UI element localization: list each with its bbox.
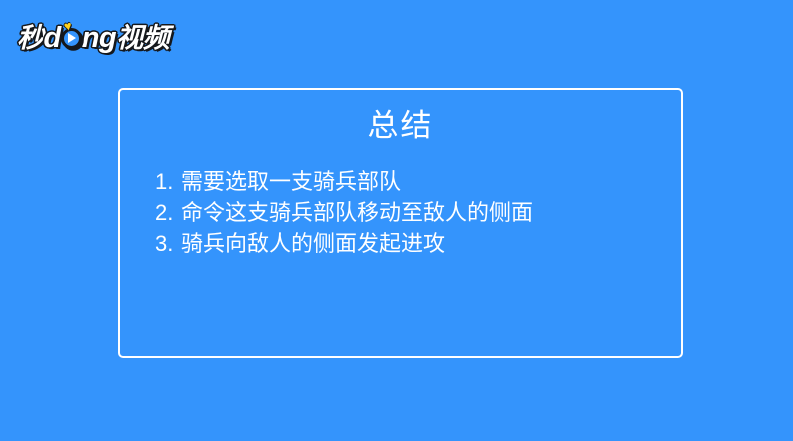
list-item-number: 1. [155, 166, 181, 197]
logo-text-prefix: 秒 [17, 25, 44, 52]
list-item-number: 3. [155, 228, 181, 259]
card-title: 总结 [120, 90, 681, 144]
slide-canvas: 秒 d ng 视频 ♥ 总结 1. 需要选取一支骑兵部队 2. 命令这支骑兵部队… [0, 0, 793, 441]
logo-text-suffix: 视频 [116, 25, 169, 52]
list-item: 2. 命令这支骑兵部队移动至敌人的侧面 [155, 197, 663, 228]
logo-text-d: d [44, 24, 61, 53]
list-item-text: 命令这支骑兵部队移动至敌人的侧面 [181, 197, 533, 228]
list-item: 3. 骑兵向敌人的侧面发起进攻 [155, 228, 663, 259]
list-item-text: 需要选取一支骑兵部队 [181, 166, 401, 197]
list-item-number: 2. [155, 197, 181, 228]
summary-card: 总结 1. 需要选取一支骑兵部队 2. 命令这支骑兵部队移动至敌人的侧面 3. … [118, 88, 683, 358]
list-item-text: 骑兵向敌人的侧面发起进攻 [181, 228, 445, 259]
play-arrow [68, 33, 76, 43]
steps-list: 1. 需要选取一支骑兵部队 2. 命令这支骑兵部队移动至敌人的侧面 3. 骑兵向… [155, 166, 663, 259]
list-item: 1. 需要选取一支骑兵部队 [155, 166, 663, 197]
channel-logo: 秒 d ng 视频 ♥ [17, 22, 169, 54]
heart-icon: ♥ [63, 19, 77, 33]
logo-text-ng: ng [82, 24, 116, 53]
